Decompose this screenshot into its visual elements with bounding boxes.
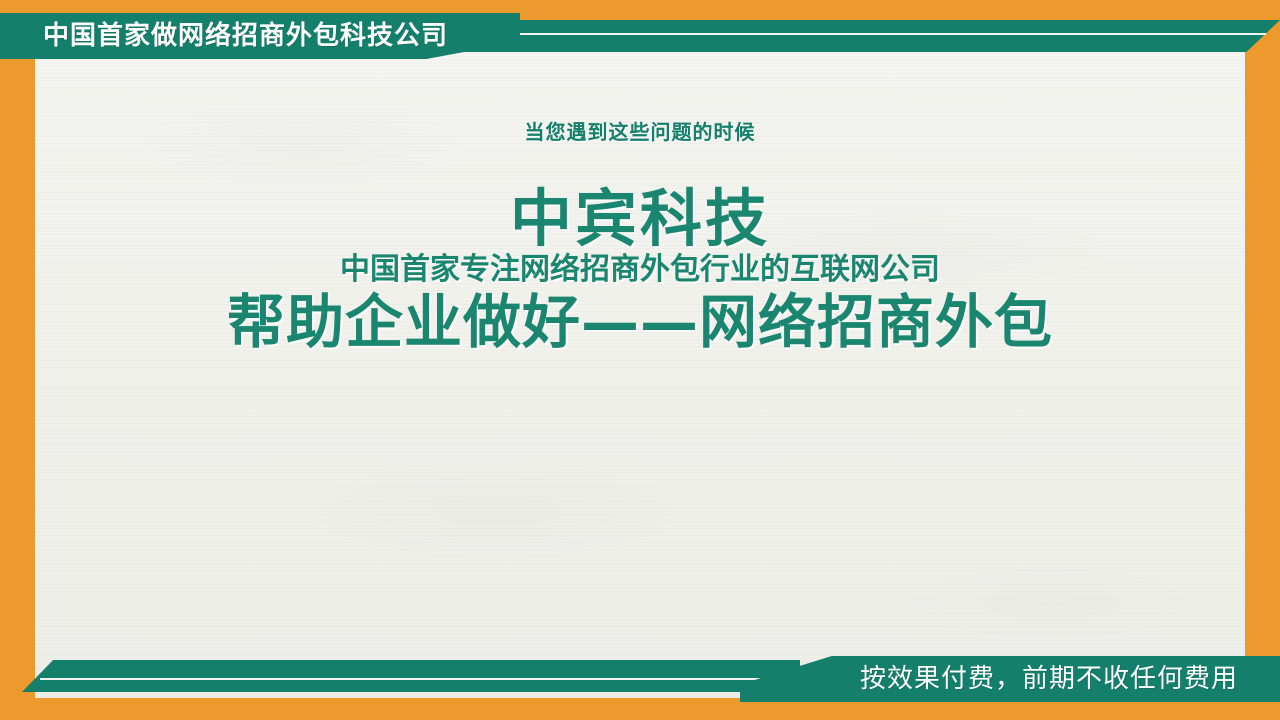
company-name: 中宾科技 <box>0 186 1280 251</box>
presentation-slide: 中国首家做网络招商外包科技公司 当您遇到这些问题的时候 中宾科技 中国首家专注网… <box>0 0 1280 720</box>
slide-main-content: 当您遇到这些问题的时候 中宾科技 中国首家专注网络招商外包行业的互联网公司 帮助… <box>0 120 1280 355</box>
company-tagline: 中国首家专注网络招商外包行业的互联网公司 <box>0 253 1280 288</box>
footer-slogan: 按效果付费，前期不收任何费用 <box>860 661 1238 697</box>
main-headline: 帮助企业做好——网络招商外包 <box>0 290 1280 355</box>
eyebrow-text: 当您遇到这些问题的时候 <box>0 120 1280 144</box>
header-title: 中国首家做网络招商外包科技公司 <box>43 16 448 56</box>
